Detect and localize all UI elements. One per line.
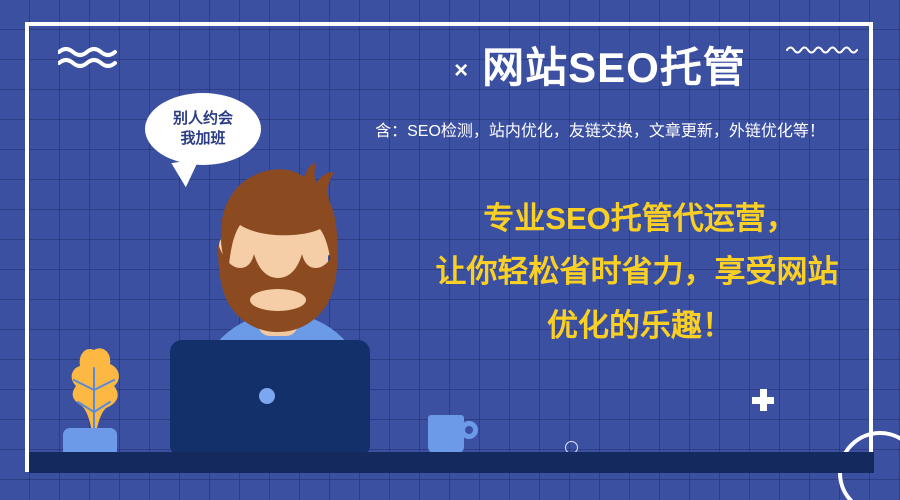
laptop-logo-icon [259, 388, 275, 404]
page-subtitle: 含：SEO检测，站内优化，友链交换，文章更新，外链优化等！ [340, 122, 860, 143]
plant-pot-icon [63, 428, 117, 454]
plant-leaf-icon [60, 344, 128, 440]
page-title: 网站SEO托管 [482, 46, 746, 90]
promo-body-copy: 专业SEO托管代运营， 让你轻松省时省力，享受网站 优化的乐趣！ [400, 192, 880, 352]
promo-body-line-1: 专业SEO托管代运营， [400, 192, 880, 245]
desk-surface [29, 452, 874, 473]
headline-row: × 网站SEO托管 [340, 46, 860, 90]
speech-bubble-line-2: 我加班 [180, 129, 225, 149]
speech-bubble-line-1: 别人约会 [173, 109, 233, 129]
person-beard [216, 238, 340, 334]
promo-body-line-2: 让你轻松省时省力，享受网站 [394, 245, 880, 298]
speech-bubble-tail [171, 159, 202, 189]
coffee-mug-icon [428, 415, 464, 453]
speech-bubble: 别人约会 我加班 [145, 93, 261, 165]
promo-body-line-3: 优化的乐趣！ [400, 299, 880, 352]
seo-promo-banner: 别人约会 我加班 × 网站SEO托管 含：SEO检测，站内优化，友链交换，文章更… [0, 0, 900, 500]
title-marker-icon: × [454, 59, 468, 83]
